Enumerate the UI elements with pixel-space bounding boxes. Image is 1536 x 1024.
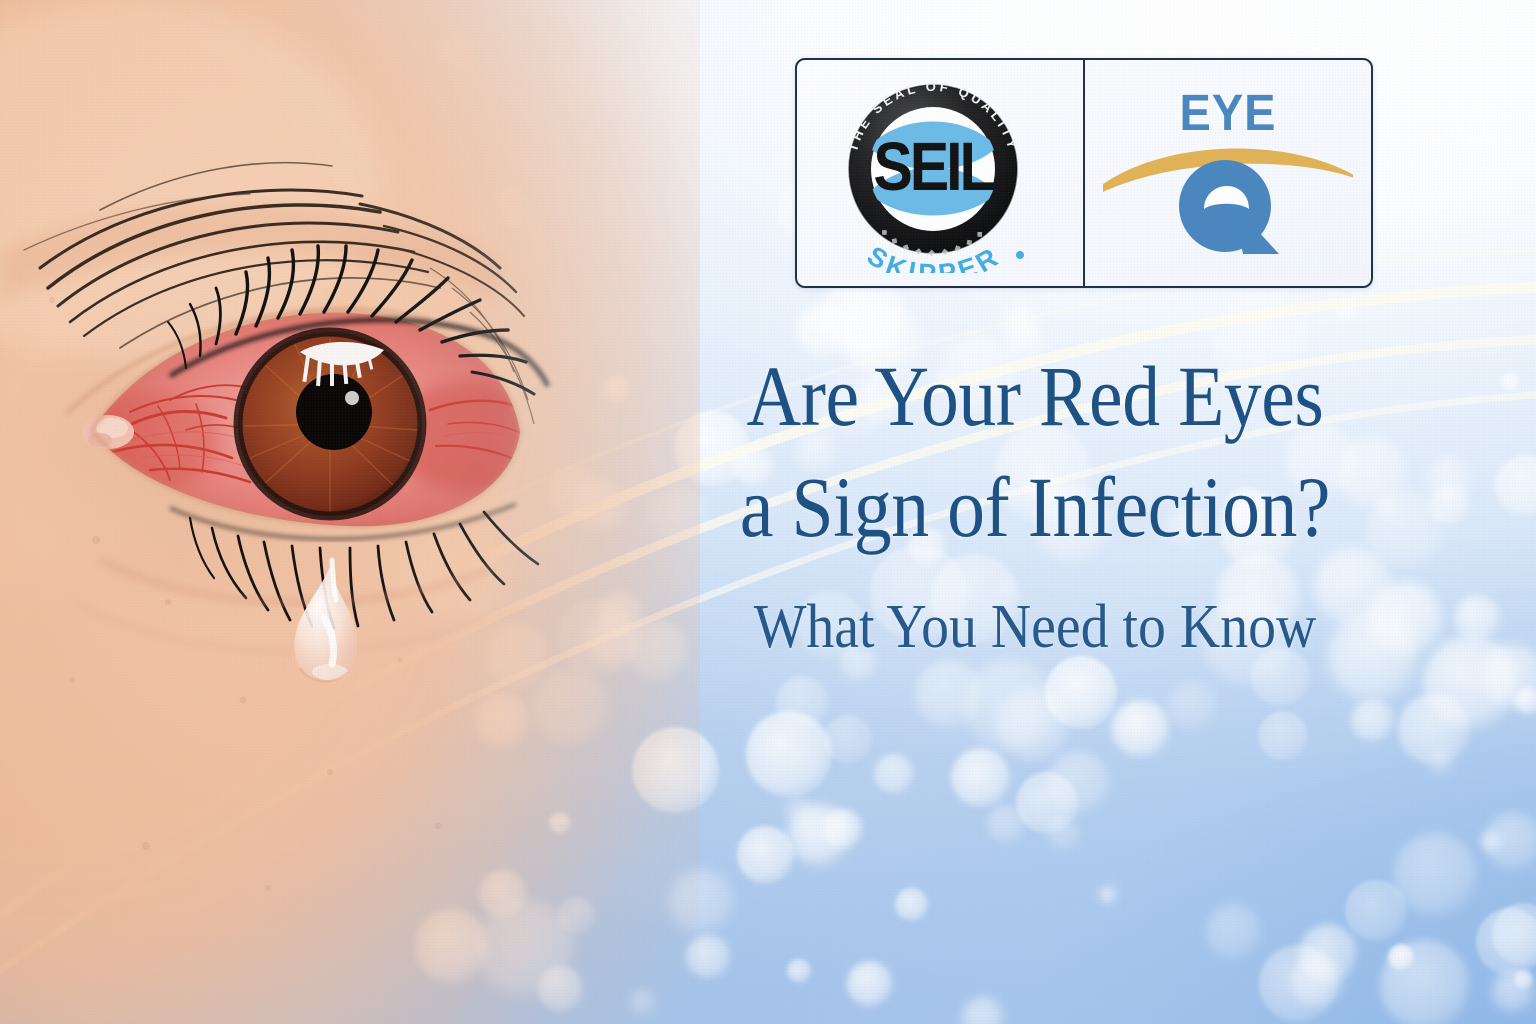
subheadline: What You Need to Know: [680, 592, 1391, 663]
seil-skipper-logo[interactable]: THE SEAL OF QUALITY ◆ ◆ ◆ ◆ ◆ ◆ ◆ ◆ ◆ SE…: [797, 60, 1083, 286]
skipper-period: [1016, 251, 1024, 259]
banner-graphic: THE SEAL OF QUALITY ◆ ◆ ◆ ◆ ◆ ◆ ◆ ◆ ◆ SE…: [0, 0, 1536, 1024]
headline: Are Your Red Eyes a Sign of Infection?: [640, 352, 1430, 551]
headline-line-2: a Sign of Infection?: [687, 463, 1382, 552]
logo-card: THE SEAL OF QUALITY ◆ ◆ ◆ ◆ ◆ ◆ ◆ ◆ ◆ SE…: [795, 58, 1373, 288]
eyeq-logo[interactable]: EYE Q: [1085, 60, 1371, 286]
eyeq-letter-q: [1179, 160, 1279, 254]
red-eye-photo: [0, 0, 700, 1024]
seil-wordmark: SEIL: [873, 128, 994, 205]
eyeq-word-eye: EYE: [1179, 85, 1276, 141]
headline-line-1: Are Your Red Eyes: [687, 352, 1382, 441]
